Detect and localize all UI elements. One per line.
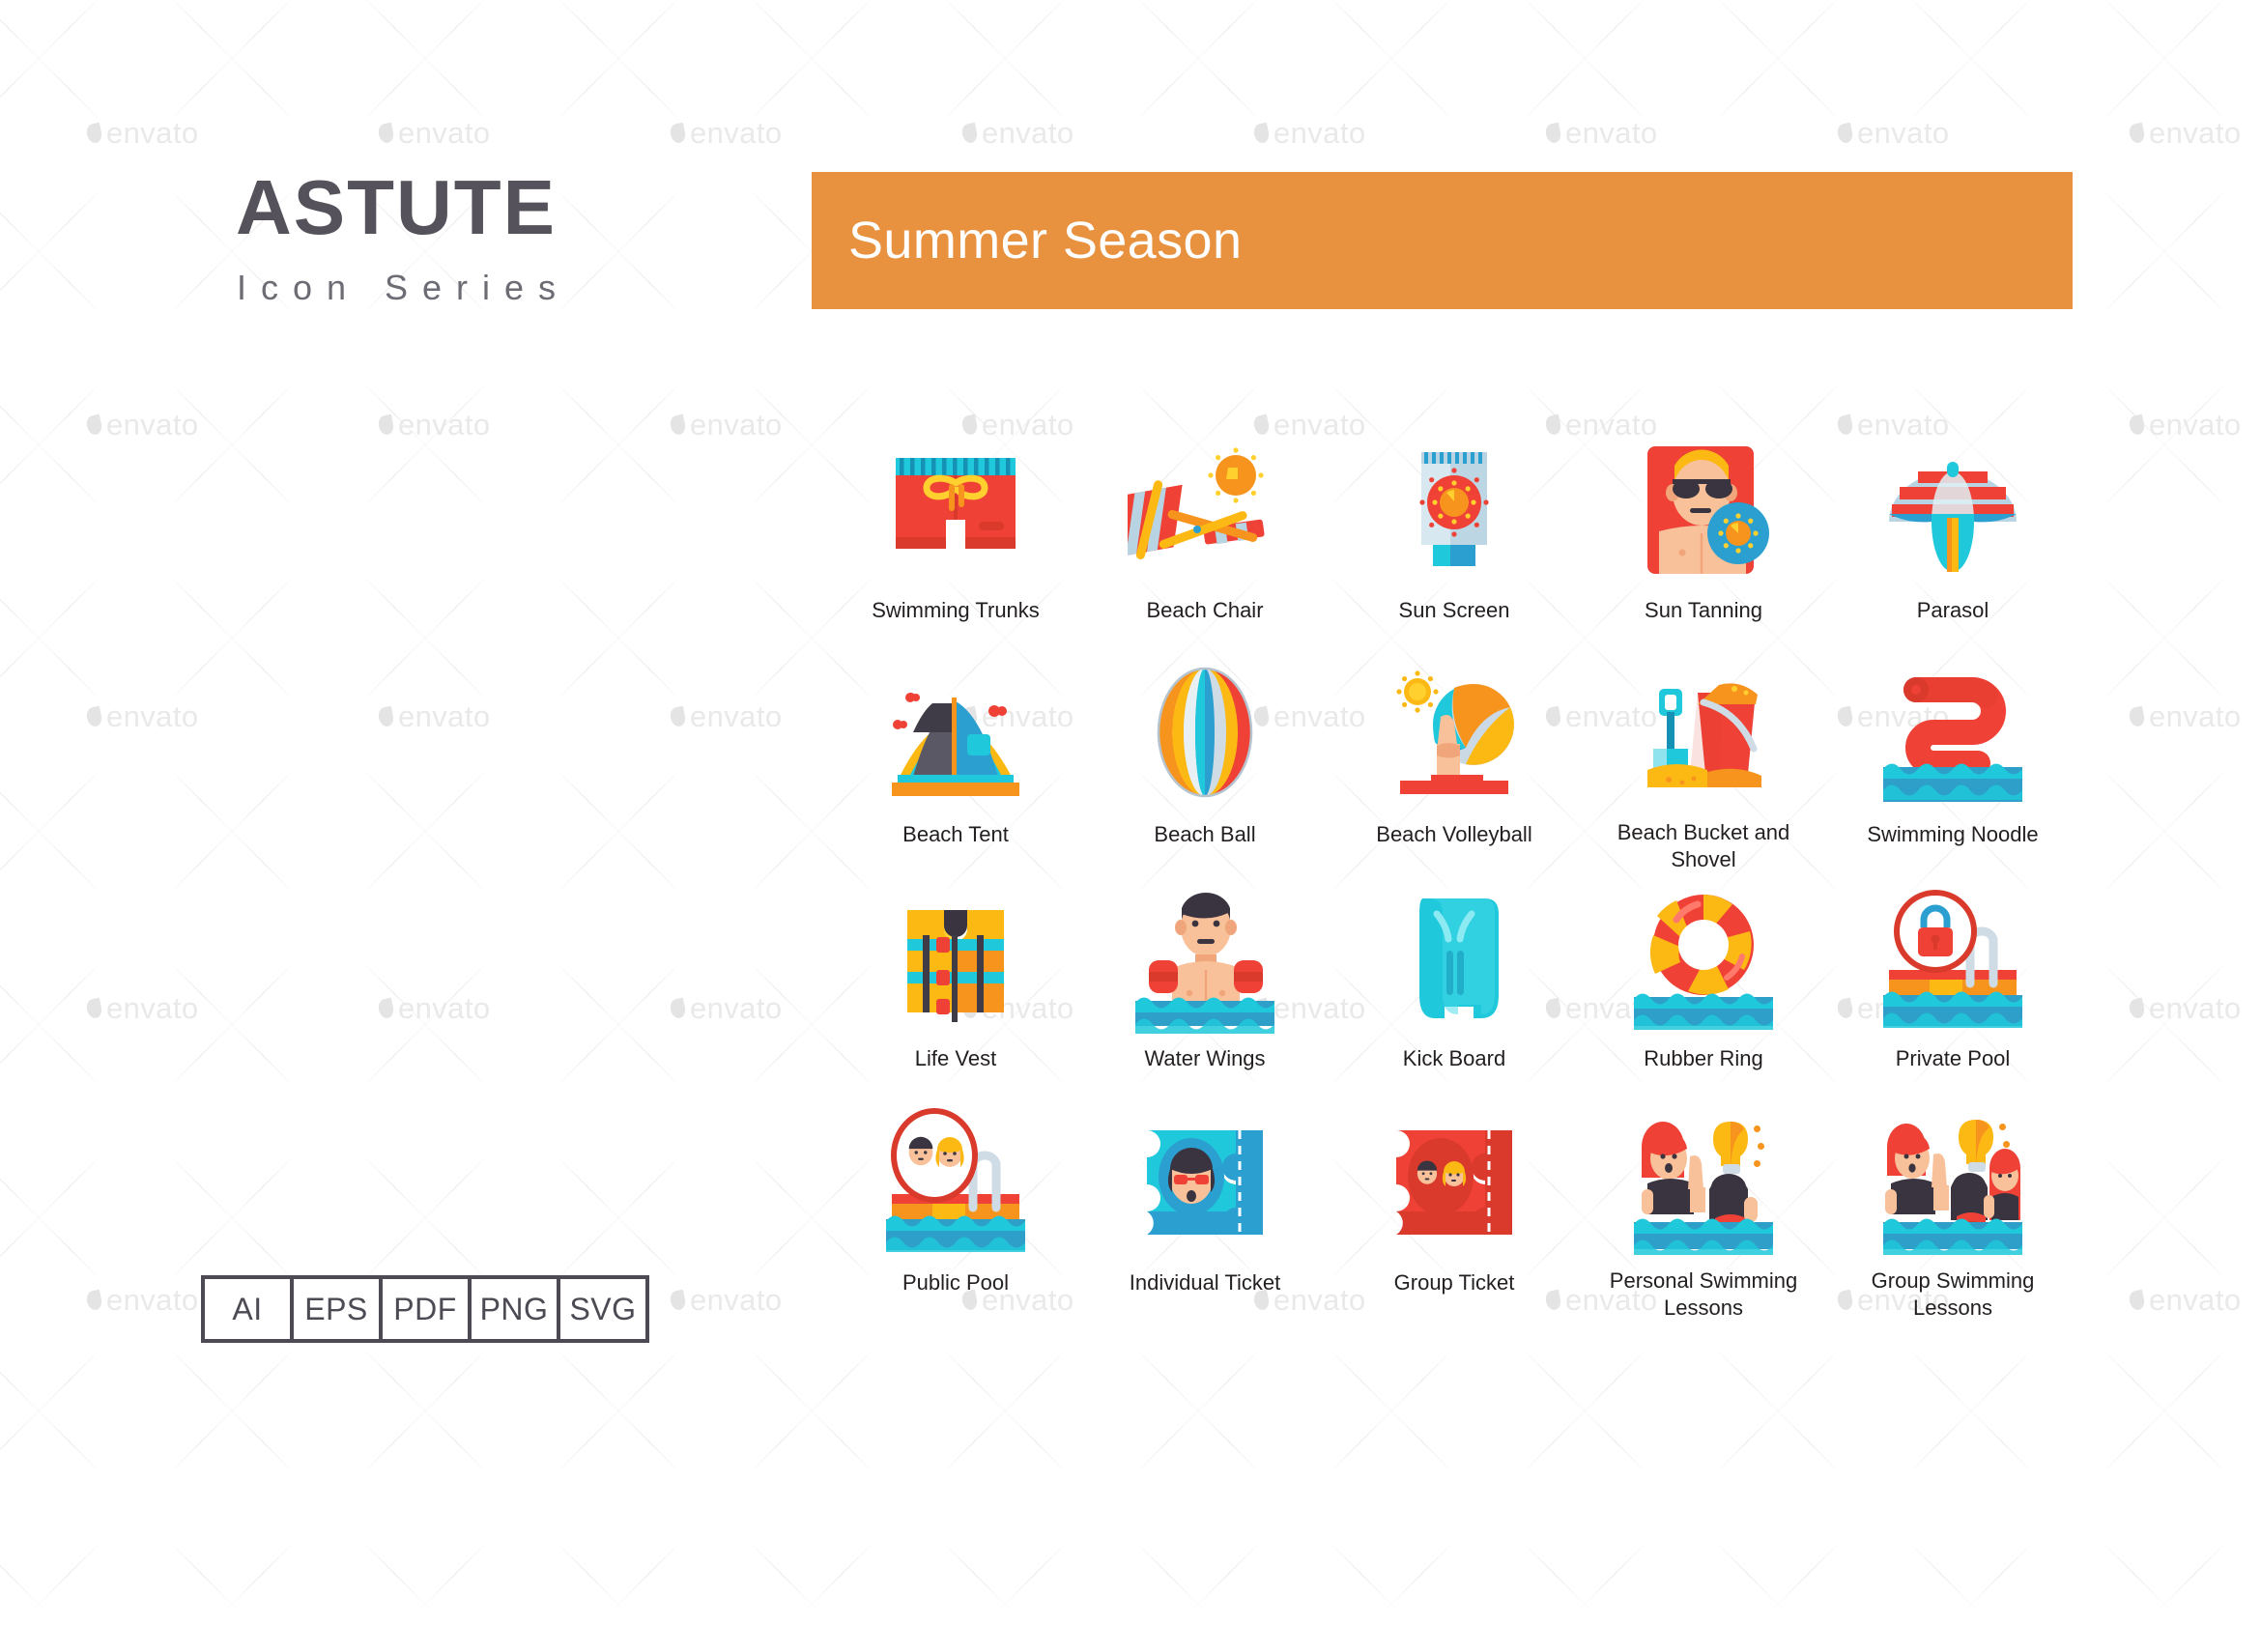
watermark-envato: envato <box>962 116 1073 151</box>
format-badge-group: AI EPS PDF PNG SVG <box>201 1275 649 1343</box>
icon-label: Personal Swimming Lessons <box>1607 1267 1800 1322</box>
watermark-cross <box>1923 1362 2213 1652</box>
watermark-cross <box>2116 589 2261 879</box>
icon-cell-swimming-trunks[interactable]: Swimming Trunks <box>831 425 1080 649</box>
watermark-envato: envato <box>2130 408 2241 442</box>
watermark-label: envato <box>2149 699 2241 734</box>
watermark-cross <box>2116 1169 2261 1459</box>
watermark-cross <box>957 0 1246 106</box>
envato-leaf-icon <box>1252 123 1271 145</box>
icon-label: Beach Bucket and Shovel <box>1607 819 1800 873</box>
beach-ball-icon <box>1120 649 1290 819</box>
envato-leaf-icon <box>2128 706 2146 728</box>
icon-cell-individual-ticket[interactable]: Individual Ticket <box>1080 1097 1330 1322</box>
icon-label: Beach Ball <box>1154 821 1255 848</box>
watermark-envato: envato <box>2130 991 2241 1026</box>
envato-leaf-icon <box>2128 998 2146 1020</box>
watermark-cross <box>1730 1362 2019 1652</box>
watermark-cross <box>1730 0 2019 106</box>
watermark-label: envato <box>2149 1283 2241 1318</box>
watermark-envato: envato <box>1838 116 1949 151</box>
watermark-label: envato <box>1565 116 1657 151</box>
envato-leaf-icon <box>1544 123 1562 145</box>
icon-cell-beach-volleyball[interactable]: Beach Volleyball <box>1330 649 1579 873</box>
parasol-icon <box>1868 425 2038 595</box>
icon-cell-kick-board[interactable]: Kick Board <box>1330 873 1579 1097</box>
icon-cell-beach-tent[interactable]: Beach Tent <box>831 649 1080 873</box>
swimming-noodle-icon <box>1868 649 2038 819</box>
left-panel: ASTUTE Icon Series AI EPS PDF PNG SVG <box>0 0 802 1507</box>
icon-label: Life Vest <box>915 1045 996 1072</box>
format-badge-pdf[interactable]: PDF <box>383 1279 468 1339</box>
icon-label: Sun Screen <box>1399 597 1510 624</box>
watermark-cross <box>1536 1362 1826 1652</box>
icon-cell-swimming-noodle[interactable]: Swimming Noodle <box>1828 649 2077 873</box>
icon-label: Group Swimming Lessons <box>1856 1267 2049 1322</box>
watermark-envato: envato <box>2130 699 2241 734</box>
beach-chair-icon <box>1120 425 1290 595</box>
envato-leaf-icon <box>2128 123 2146 145</box>
icon-label: Water Wings <box>1144 1045 1265 1072</box>
watermark-envato: envato <box>1546 116 1657 151</box>
icon-label: Public Pool <box>902 1269 1009 1296</box>
icon-cell-public-pool[interactable]: Public Pool <box>831 1097 1080 1322</box>
icon-label: Kick Board <box>1403 1045 1505 1072</box>
icon-cell-life-vest[interactable]: Life Vest <box>831 873 1080 1097</box>
page-title: ASTUTE <box>188 169 604 246</box>
format-badge-svg[interactable]: SVG <box>560 1279 645 1339</box>
icon-cell-sun-screen[interactable]: Sun Screen <box>1330 425 1579 649</box>
banner-title: Summer Season <box>848 211 1242 271</box>
watermark-cross <box>2116 1362 2261 1652</box>
envato-leaf-icon <box>2128 414 2146 437</box>
envato-leaf-icon <box>960 123 979 145</box>
life-vest-icon <box>871 873 1041 1043</box>
watermark-envato: envato <box>2130 1283 2241 1318</box>
group-swimming-lessons-icon <box>1868 1097 2038 1266</box>
swimming-trunks-icon <box>871 425 1041 595</box>
icon-cell-sun-tanning[interactable]: Sun Tanning <box>1579 425 1828 649</box>
water-wings-icon <box>1120 873 1290 1043</box>
icon-cell-group-ticket[interactable]: Group Ticket <box>1330 1097 1579 1322</box>
icon-grid: Swimming Trunks Beach Chair Sun Screen S… <box>831 425 2077 1322</box>
beach-tent-icon <box>871 649 1041 819</box>
section-banner: Summer Season <box>812 172 2073 309</box>
icon-cell-water-wings[interactable]: Water Wings <box>1080 873 1330 1097</box>
envato-leaf-icon <box>2128 1290 2146 1312</box>
watermark-cross <box>2116 396 2261 686</box>
icon-cell-parasol[interactable]: Parasol <box>1828 425 2077 649</box>
icon-label: Swimming Trunks <box>872 597 1040 624</box>
watermark-label: envato <box>2149 116 2241 151</box>
brand-subtitle: Icon Series <box>188 268 604 308</box>
watermark-cross <box>1923 0 2213 106</box>
watermark-cross <box>2116 783 2261 1072</box>
watermark-label: envato <box>2149 991 2241 1026</box>
icon-cell-rubber-ring[interactable]: Rubber Ring <box>1579 873 1828 1097</box>
watermark-cross <box>1150 1362 1440 1652</box>
brand-block: ASTUTE Icon Series <box>188 169 604 308</box>
watermark-label: envato <box>982 116 1073 151</box>
icon-cell-personal-swimming-lessons[interactable]: Personal Swimming Lessons <box>1579 1097 1828 1322</box>
watermark-label: envato <box>1857 116 1949 151</box>
watermark-label: envato <box>2149 408 2241 442</box>
icon-label: Beach Tent <box>902 821 1009 848</box>
watermark-cross <box>2116 10 2261 299</box>
icon-cell-beach-ball[interactable]: Beach Ball <box>1080 649 1330 873</box>
sun-tanning-icon <box>1618 425 1789 595</box>
watermark-cross <box>1536 0 1826 106</box>
rubber-ring-icon <box>1618 873 1789 1043</box>
icon-label: Private Pool <box>1896 1045 2011 1072</box>
icon-cell-group-swimming-lessons[interactable]: Group Swimming Lessons <box>1828 1097 2077 1322</box>
icon-label: Beach Volleyball <box>1376 821 1531 848</box>
private-pool-icon <box>1868 873 2038 1043</box>
watermark-cross <box>763 1362 1053 1652</box>
icon-label: Parasol <box>1917 597 1989 624</box>
icon-label: Swimming Noodle <box>1867 821 2038 848</box>
personal-swimming-lessons-icon <box>1618 1097 1789 1266</box>
icon-cell-beach-chair[interactable]: Beach Chair <box>1080 425 1330 649</box>
envato-leaf-icon <box>1836 123 1854 145</box>
watermark-cross <box>1343 1362 1633 1652</box>
beach-bucket-and-shovel-icon <box>1618 649 1789 817</box>
icon-label: Rubber Ring <box>1644 1045 1763 1072</box>
icon-label: Group Ticket <box>1394 1269 1515 1296</box>
format-badge-eps[interactable]: EPS <box>294 1279 379 1339</box>
watermark-cross <box>1343 0 1633 106</box>
individual-ticket-icon <box>1120 1097 1290 1267</box>
kick-board-icon <box>1369 873 1539 1043</box>
icon-label: Beach Chair <box>1146 597 1263 624</box>
watermark-envato: envato <box>2130 116 2241 151</box>
watermark-label: envato <box>1274 116 1365 151</box>
watermark-cross <box>763 0 1053 106</box>
icon-label: Sun Tanning <box>1645 597 1762 624</box>
watermark-cross <box>2116 976 2261 1266</box>
public-pool-icon <box>871 1097 1041 1267</box>
sun-screen-icon <box>1369 425 1539 595</box>
icon-cell-private-pool[interactable]: Private Pool <box>1828 873 2077 1097</box>
watermark-envato: envato <box>1254 116 1365 151</box>
icon-cell-beach-bucket-and-shovel[interactable]: Beach Bucket and Shovel <box>1579 649 1828 873</box>
format-badge-ai[interactable]: AI <box>205 1279 290 1339</box>
watermark-cross <box>957 1362 1246 1652</box>
format-badge-png[interactable]: PNG <box>472 1279 557 1339</box>
watermark-cross <box>1150 0 1440 106</box>
group-ticket-icon <box>1369 1097 1539 1267</box>
icon-label: Individual Ticket <box>1130 1269 1281 1296</box>
watermark-cross <box>2116 203 2261 493</box>
beach-volleyball-icon <box>1369 649 1539 819</box>
watermark-cross <box>2116 0 2261 106</box>
